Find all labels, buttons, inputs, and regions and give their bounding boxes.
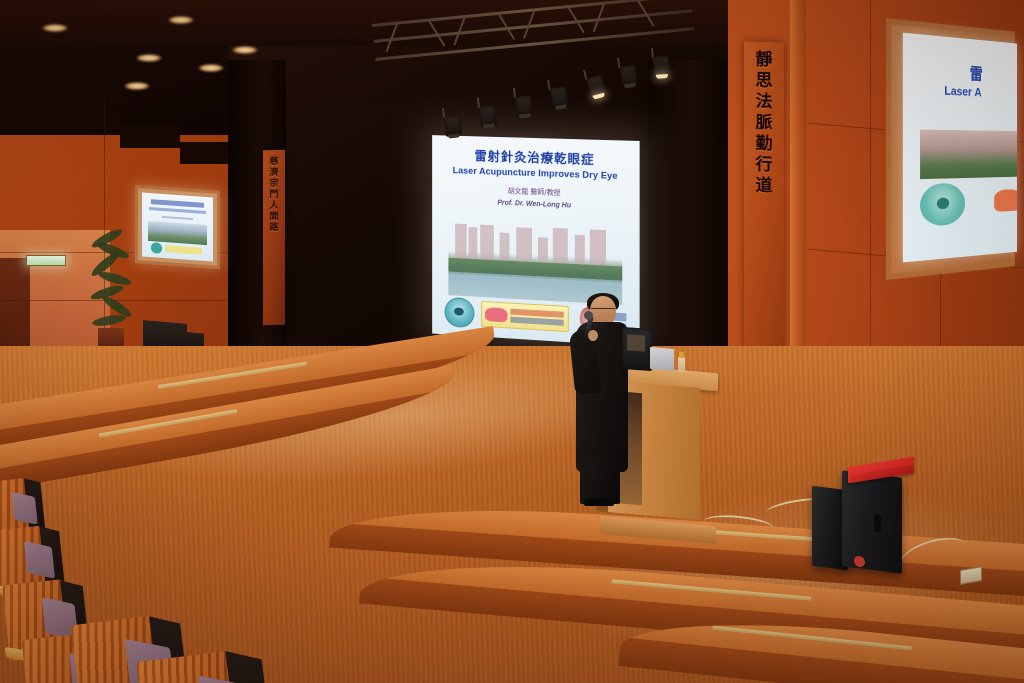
pa-speaker-handle [874,514,881,533]
eye-logo [444,297,474,329]
downlight-icon [198,64,224,72]
banner-glyph: 慈 [269,158,278,167]
banner-glyph: 思 [756,73,773,90]
slide-author-bar [162,216,193,221]
banner-glyph: 脈 [756,115,773,132]
ceiling-step-b [120,126,180,148]
pa-speaker-badge [854,555,865,567]
slide-title-english: Laser Acupuncture Improves Dry Eye [442,165,630,181]
downlight-icon [42,24,68,32]
hospital-banner-logo [165,245,202,254]
water-bottle [678,352,685,373]
downlight-icon [232,46,258,54]
slide-subtitle-bar [149,207,206,214]
slide-title-chinese-partial: 雷 [970,61,983,85]
wall-monitor-left-surface [142,193,213,262]
calligraphy-banner-left: 慈 濟 宗 門 人 間 路 [263,150,285,325]
banner-glyph: 道 [756,178,773,195]
eye-logo [151,242,162,253]
potted-plant [88,230,134,350]
presenter-hand [588,330,598,341]
auditorium-scene: 雷射針灸治療乾眼症 Laser Acupuncture Improves Dry… [0,0,1024,683]
slide-cityscape-photo [920,130,1017,180]
banner-glyph: 行 [756,157,773,174]
banner-glyph: 濟 [269,169,278,178]
podium-laptop [650,347,674,371]
downlight-icon [168,16,194,24]
banner-glyph: 靜 [756,52,773,69]
banner-glyph: 門 [269,191,278,200]
hospital-banner-logo [994,189,1017,211]
glasses-icon [591,308,615,313]
auditorium-seating [0,470,340,683]
pa-speaker [842,470,902,573]
presenter-legs [580,456,620,504]
calligraphy-banner-right: 靜 思 法 脈 勤 行 道 [744,41,784,390]
banner-glyph: 勤 [756,136,773,153]
slide-photo-thumb [148,220,208,245]
slide-title-english-partial: Laser A [944,83,981,99]
secondary-screen-surface: 雷 Laser A [903,33,1017,263]
eye-logo [920,183,965,227]
banner-glyph: 宗 [269,180,278,189]
banner-glyph: 人 [269,202,278,211]
banner-glyph: 路 [269,224,278,233]
hospital-banner-logo [482,301,569,332]
exit-sign-light [26,255,66,266]
secondary-projection-screen: 雷 Laser A [886,18,1015,280]
banner-glyph: 法 [756,94,773,111]
podium-monitor [622,328,652,370]
downlight-icon [124,82,150,90]
slide-cityscape-photo [448,223,622,304]
ceiling-step-a [0,110,120,130]
banner-glyph: 間 [269,213,278,222]
slide-title-bar [151,200,205,208]
wall-monitor-left [135,185,220,269]
downlight-icon [136,54,162,62]
microphone-head [584,311,593,320]
